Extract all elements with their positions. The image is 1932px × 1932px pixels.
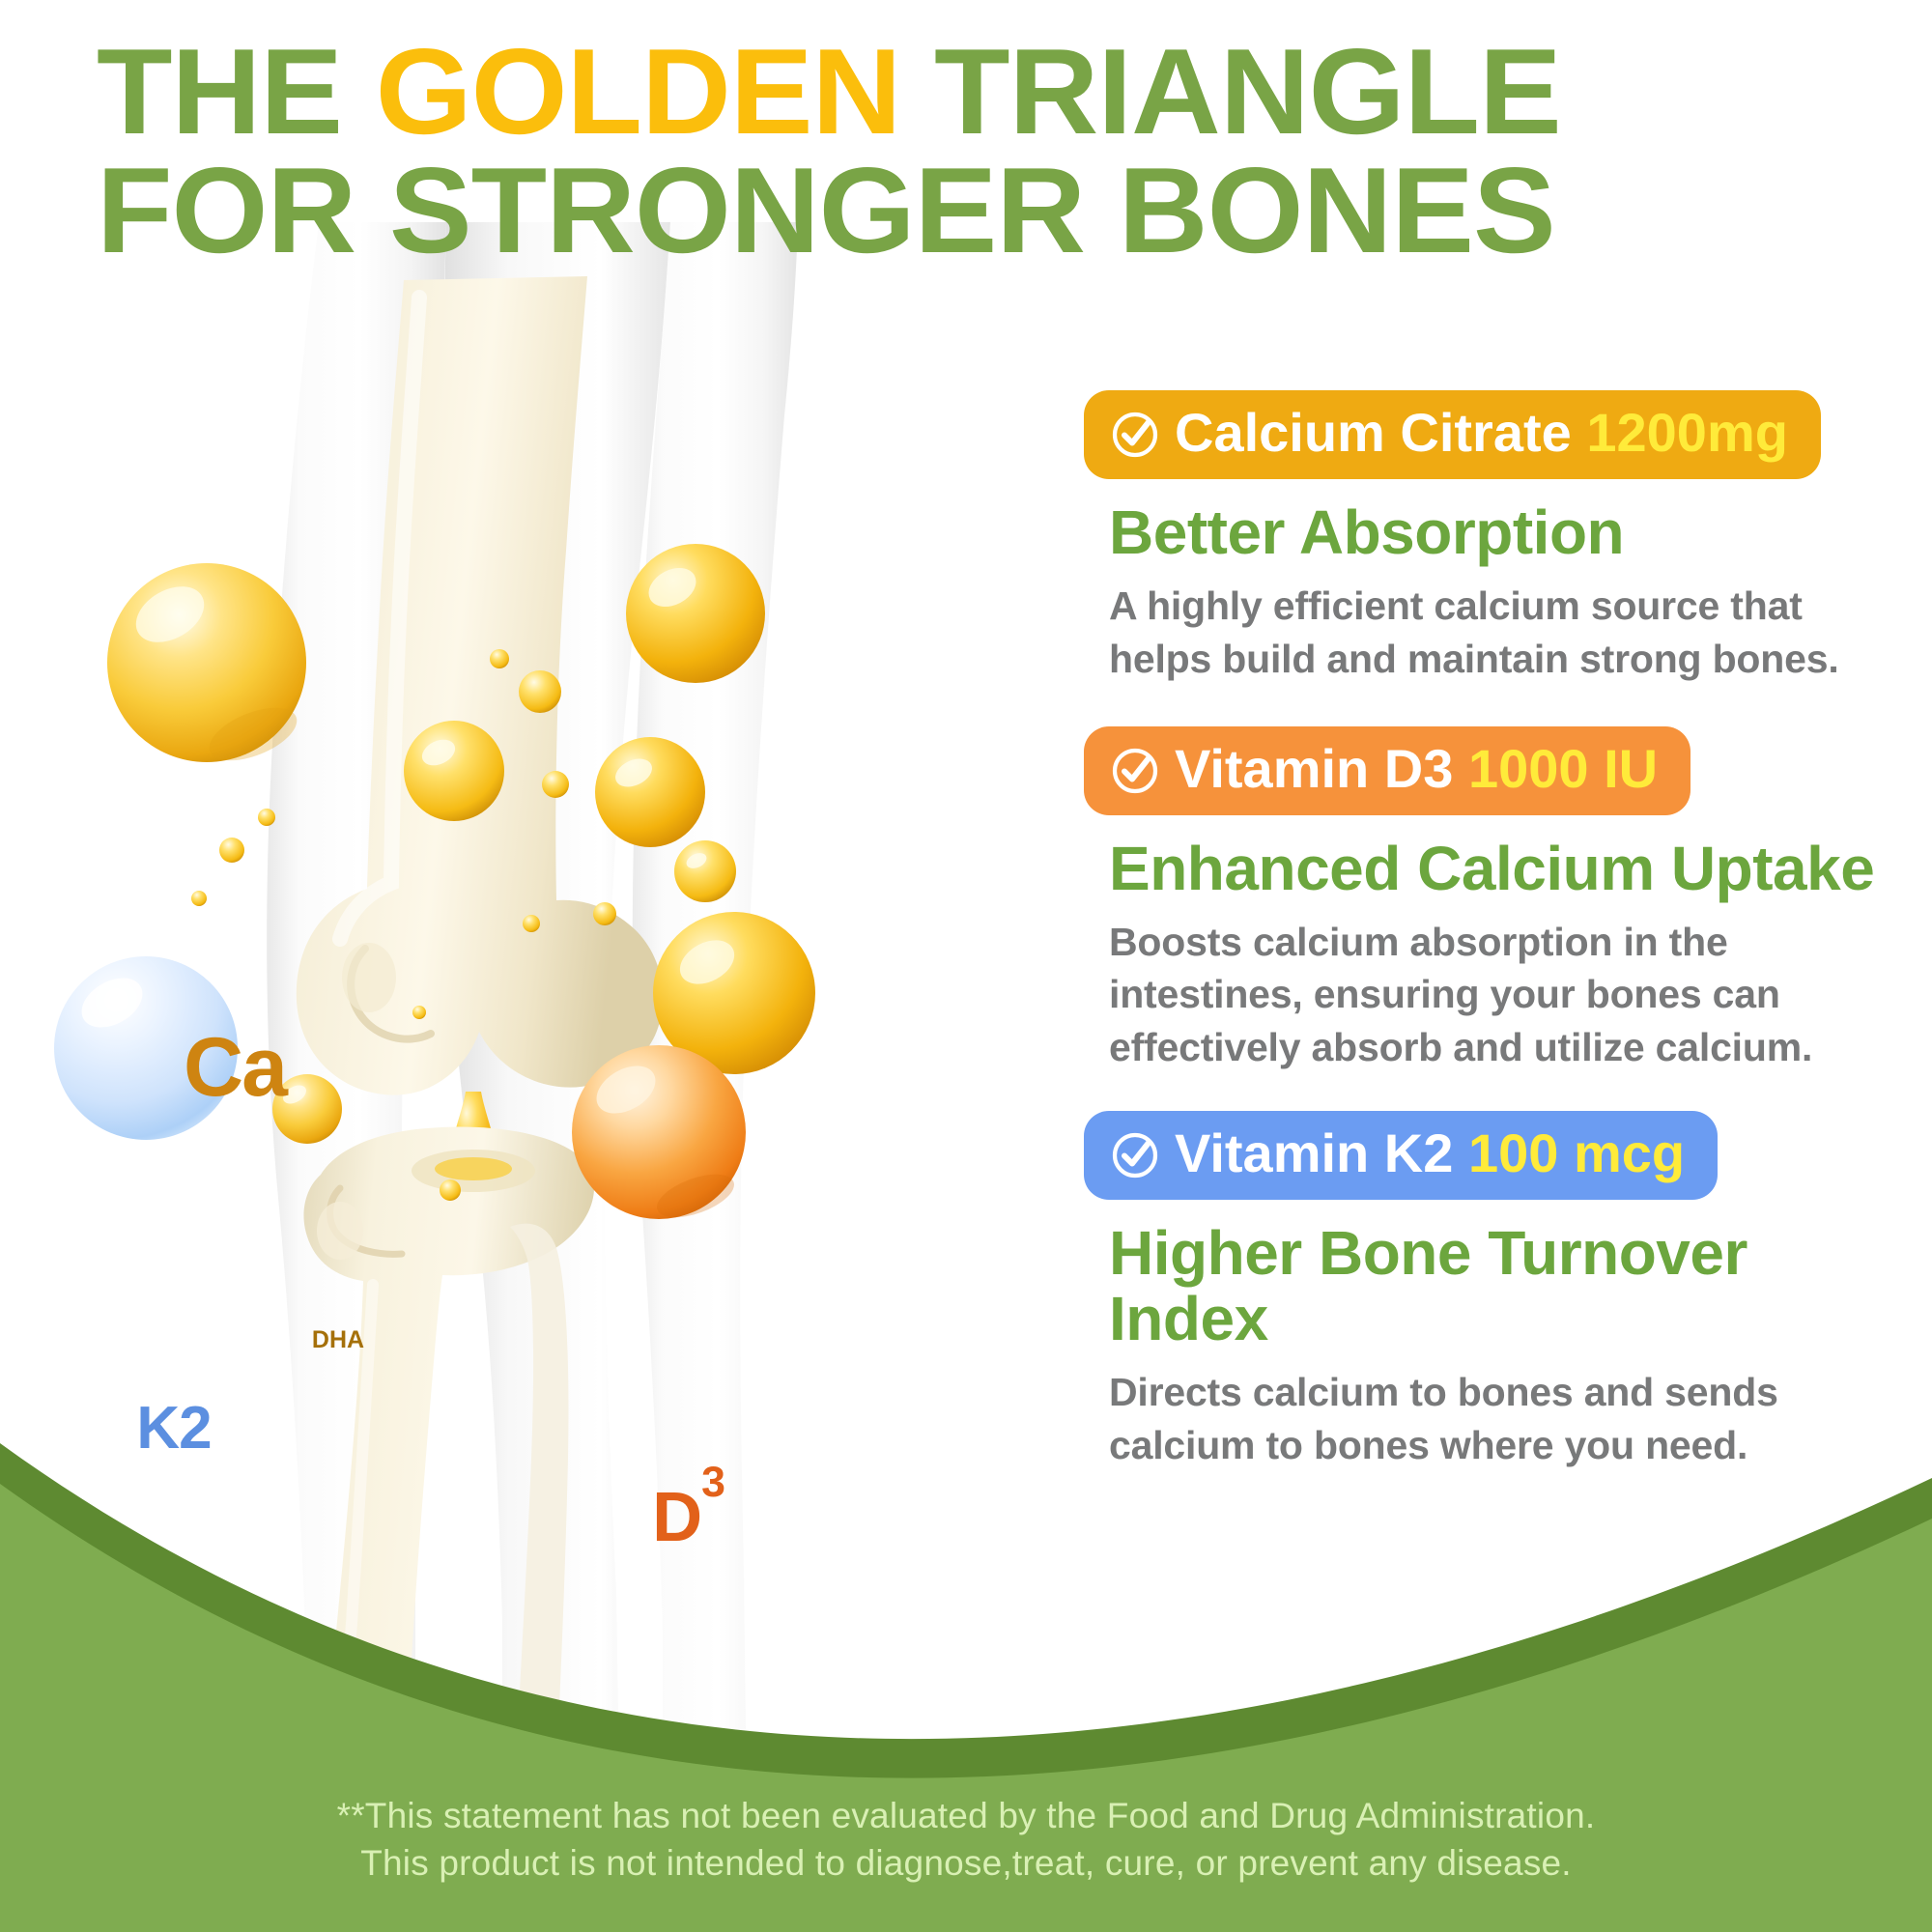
badge-vitamin-k2[interactable]: Vitamin K2 100 mcg [1084,1111,1718,1200]
footer-disclaimer-line-1: **This statement has not been evaluated … [0,1792,1932,1840]
badge-dose-vitamin-k2: 100 mcg [1468,1122,1685,1183]
title-line-2: FOR STRONGER BONES [97,156,1900,265]
bubble-k2 [54,956,238,1140]
nutrient-block-calcium-citrate: Calcium Citrate 1200mg Better Absorption… [1084,390,1891,686]
title-word-golden: GOLDEN [376,23,901,159]
infographic-poster: THE GOLDEN TRIANGLE FOR STRONGER BONES [0,0,1932,1932]
heading-higher-bone-turnover-index: Higher Bone Turnover Index [1109,1221,1891,1352]
check-circle-icon [1111,411,1159,459]
badge-dose-vitamin-d3: 1000 IU [1468,738,1658,799]
heading-better-absorption: Better Absorption [1109,500,1891,566]
badge-label-vitamin-k2: Vitamin K2 [1175,1122,1453,1183]
badge-label-vitamin-d3: Vitamin D3 [1175,738,1453,799]
body-enhanced-calcium-uptake: Boosts calcium absorption in the intesti… [1109,916,1891,1075]
badge-calcium-citrate[interactable]: Calcium Citrate 1200mg [1084,390,1821,479]
footer-disclaimer: **This statement has not been evaluated … [0,1792,1932,1888]
footer-banner: **This statement has not been evaluated … [0,1391,1932,1932]
page-title: THE GOLDEN TRIANGLE FOR STRONGER BONES [97,37,1864,266]
body-better-absorption: A highly efficient calcium source that h… [1109,580,1891,686]
footer-disclaimer-line-2: This product is not intended to diagnose… [0,1839,1932,1888]
nutrient-block-vitamin-d3: Vitamin D3 1000 IU Enhanced Calcium Upta… [1084,726,1891,1075]
heading-enhanced-calcium-uptake: Enhanced Calcium Uptake [1109,837,1891,902]
badge-label-calcium-citrate: Calcium Citrate [1175,402,1572,463]
badge-dose-calcium-citrate: 1200mg [1586,402,1788,463]
title-word-triangle: TRIANGLE [900,23,1560,159]
nutrient-list: Calcium Citrate 1200mg Better Absorption… [1084,390,1891,1478]
check-circle-icon [1111,1131,1159,1179]
title-word-the: THE [97,23,376,159]
title-line-1: THE GOLDEN TRIANGLE [97,37,1900,146]
check-circle-icon [1111,747,1159,795]
bubble-dha [272,1074,342,1144]
badge-vitamin-d3[interactable]: Vitamin D3 1000 IU [1084,726,1690,815]
bubble-ca [107,563,306,771]
